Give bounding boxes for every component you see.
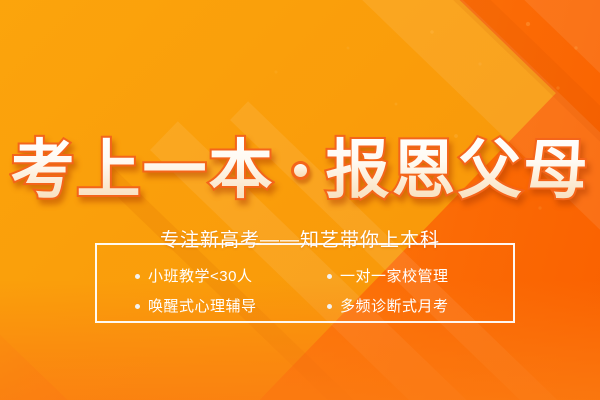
headline-right-text: 报恩父母 <box>326 134 590 206</box>
promo-banner: 考上一本 考上一本 报恩父母 报恩父母 专注新高考——知艺带你上本科 小班教学<… <box>0 0 600 400</box>
list-item: 一对一家校管理 <box>305 266 497 288</box>
feature-label: 唤醒式心理辅导 <box>148 296 257 318</box>
feature-label: 一对一家校管理 <box>340 266 449 288</box>
bullet-dot-icon <box>135 274 140 279</box>
subtitle-container: 专注新高考——知艺带你上本科 <box>0 231 600 250</box>
headline-left-text: 考上一本 <box>11 134 275 206</box>
dot-separator-icon <box>291 161 310 180</box>
bullet-dot-icon <box>327 304 332 309</box>
headline-left-group: 考上一本 考上一本 <box>11 138 275 202</box>
feature-list: 小班教学<30人 一对一家校管理 唤醒式心理辅导 多频诊断式月考 <box>95 266 515 318</box>
headline-right-group: 报恩父母 报恩父母 <box>326 138 590 202</box>
subtitle-text: 专注新高考——知艺带你上本科 <box>146 231 454 250</box>
list-item: 唤醒式心理辅导 <box>113 296 305 318</box>
headline: 考上一本 考上一本 报恩父母 报恩父母 <box>0 138 600 202</box>
feature-label: 小班教学<30人 <box>148 266 252 288</box>
bullet-dot-icon <box>135 304 140 309</box>
list-item: 多频诊断式月考 <box>305 296 497 318</box>
feature-label: 多频诊断式月考 <box>340 296 449 318</box>
list-item: 小班教学<30人 <box>113 266 305 288</box>
bullet-dot-icon <box>327 274 332 279</box>
